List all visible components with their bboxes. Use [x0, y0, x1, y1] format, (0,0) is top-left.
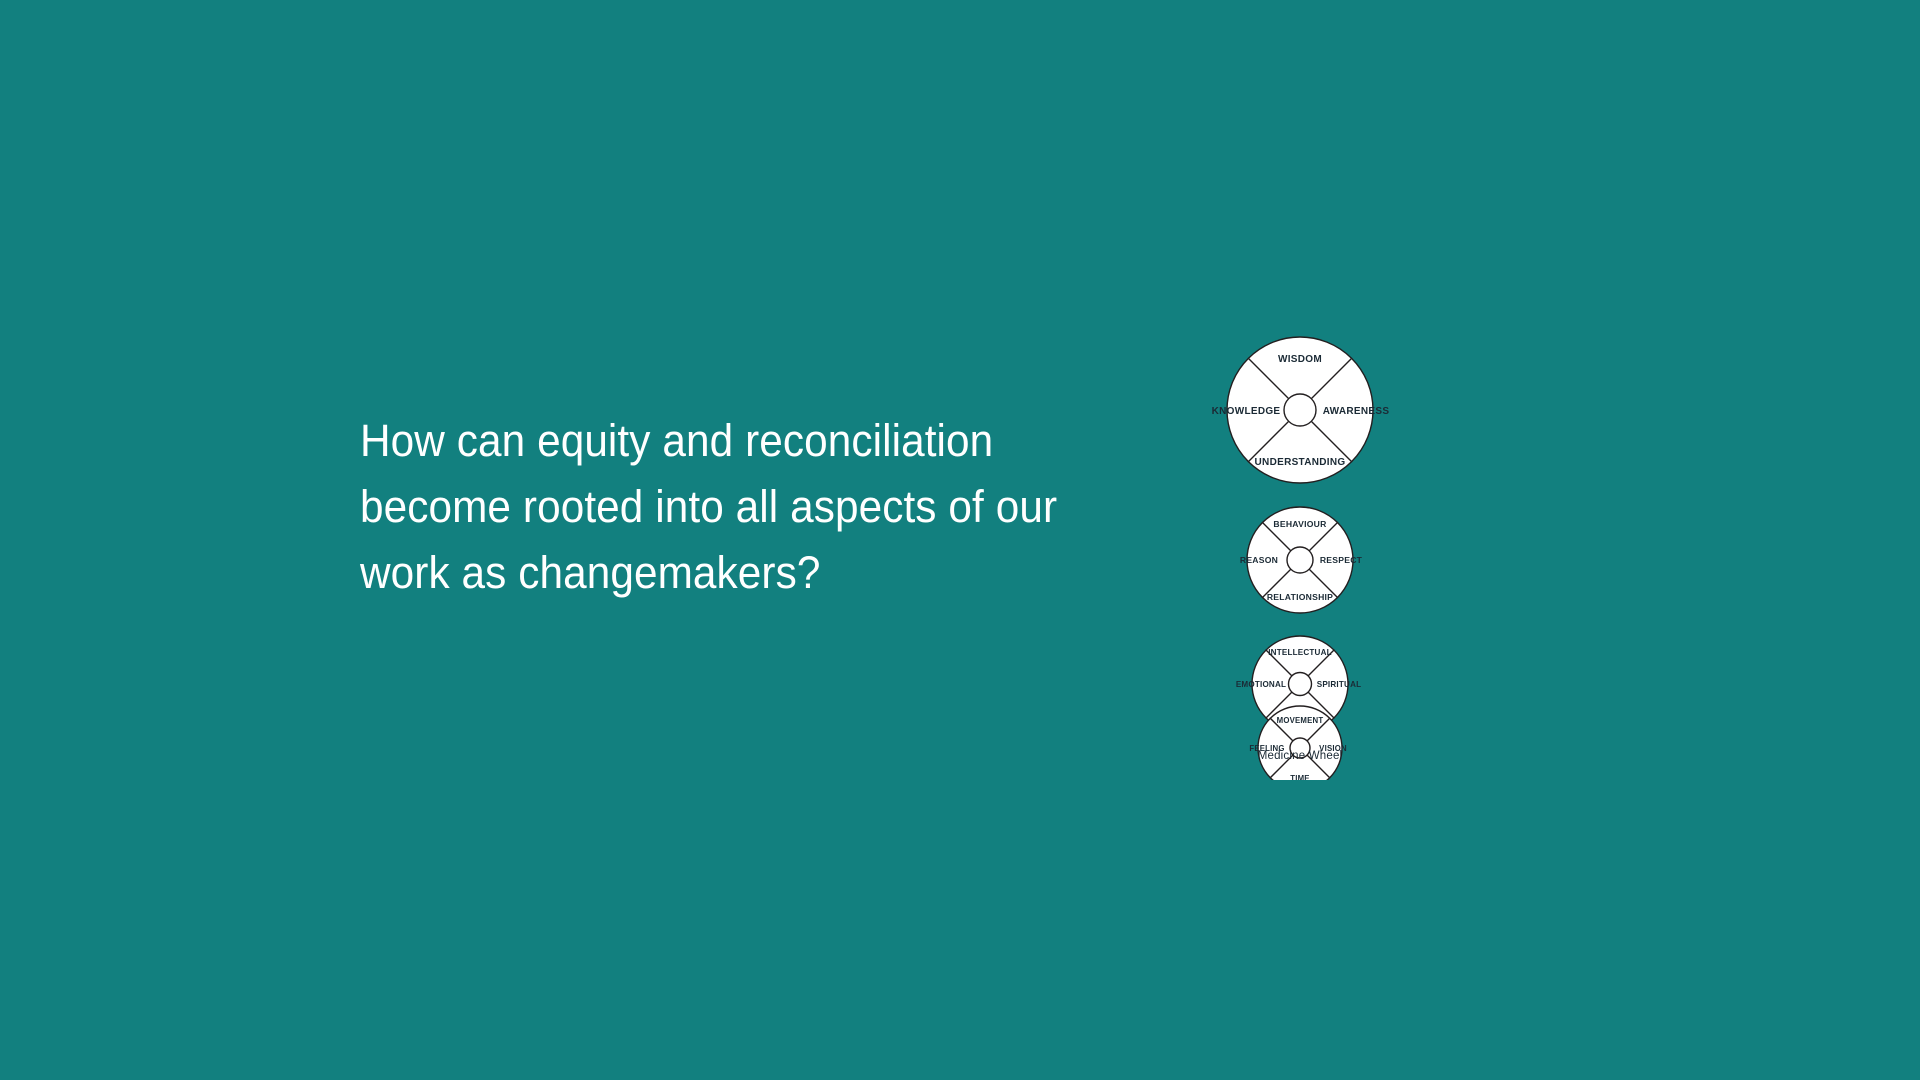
wheel-behaviour: BEHAVIOUR REASON RESPECT RELATIONSHIP — [1240, 507, 1363, 613]
wheel-label-bottom: UNDERSTANDING — [1255, 457, 1346, 468]
wheel-label-right: SPIRITUAL — [1317, 680, 1362, 689]
wheel-label-bottom: TIME — [1290, 774, 1309, 780]
figure-caption: Medicine Wheel — [1180, 750, 1420, 762]
page-title: How can equity and reconciliation become… — [360, 408, 1120, 606]
headline-line-2: become rooted into all aspects of our — [360, 474, 1074, 540]
medicine-wheel-figure: WISDOM KNOWLEDGE AWARENESS UNDERSTANDING… — [1180, 240, 1420, 780]
wheel-label-right: RESPECT — [1320, 555, 1363, 565]
wheel-label-bottom: RELATIONSHIP — [1267, 592, 1333, 602]
wheel-label-top: WISDOM — [1278, 354, 1322, 365]
wheel-wisdom: WISDOM KNOWLEDGE AWARENESS UNDERSTANDING — [1212, 337, 1390, 483]
wheel-hub — [1284, 394, 1316, 426]
wheel-label-top: MOVEMENT — [1277, 716, 1324, 725]
wheel-label-left: KNOWLEDGE — [1212, 406, 1281, 417]
medicine-wheel-graphic: WISDOM KNOWLEDGE AWARENESS UNDERSTANDING… — [1180, 240, 1420, 780]
wheel-label-top: INTELLECTUAL — [1268, 648, 1332, 657]
headline-line-1: How can equity and reconciliation — [360, 408, 1074, 474]
headline-line-3: work as changemakers? — [360, 540, 1074, 606]
wheel-hub — [1289, 673, 1312, 696]
wheel-label-top: BEHAVIOUR — [1273, 519, 1327, 529]
wheel-label-left: EMOTIONAL — [1236, 680, 1286, 689]
wheel-label-right: AWARENESS — [1323, 406, 1390, 417]
wheel-label-left: REASON — [1240, 555, 1278, 565]
slide-canvas: How can equity and reconciliation become… — [0, 0, 1920, 1080]
wheel-hub — [1287, 547, 1313, 573]
